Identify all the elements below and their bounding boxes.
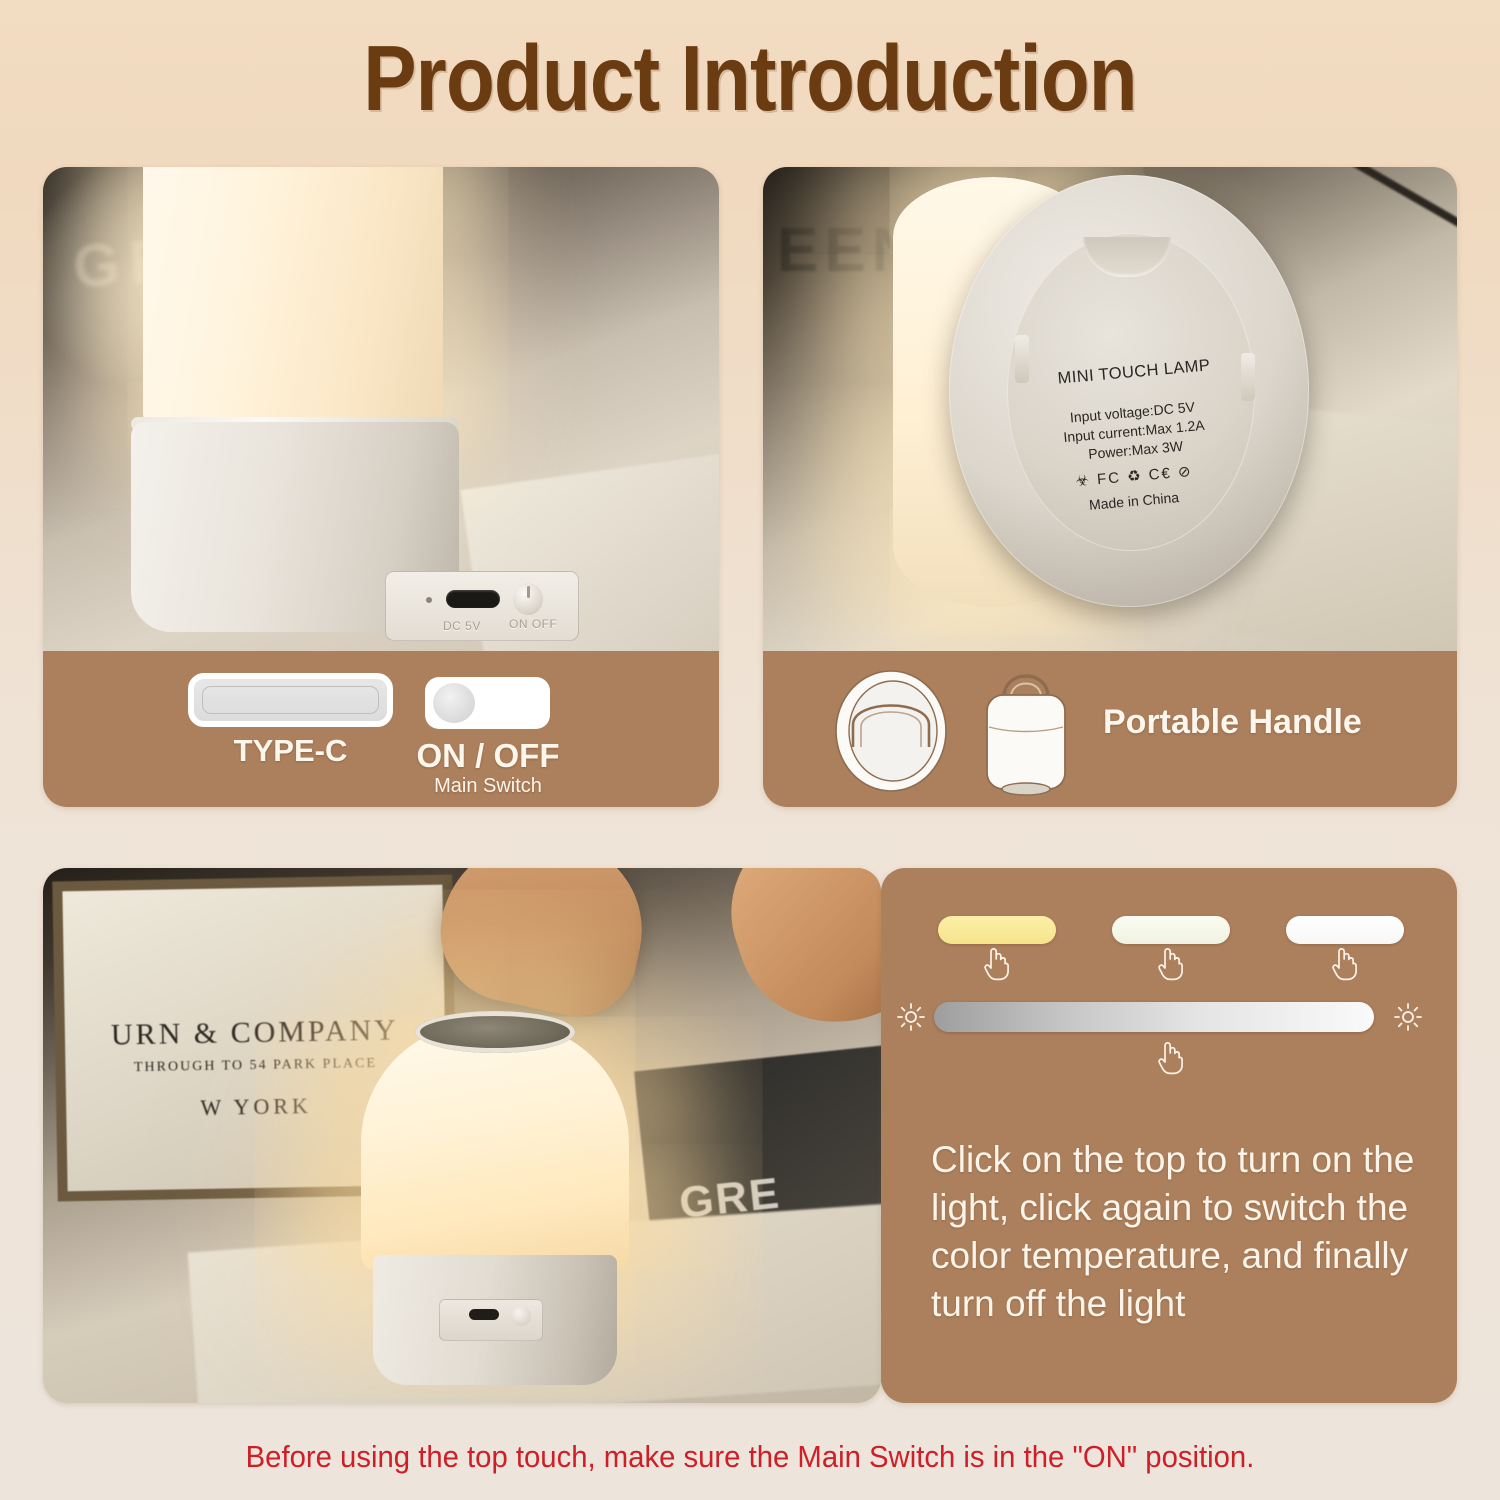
lamp-shade: [143, 167, 443, 432]
handle-side-view-icon: [971, 661, 1081, 797]
photo-lamp-base-ports: GRE DC 5V ON OFF: [43, 167, 719, 651]
pointing-hand-cursor-icon: [1156, 1040, 1184, 1076]
type-c-label: TYPE-C: [188, 733, 393, 769]
type-c-port-inner: [202, 686, 379, 714]
panel-touch-instructions: Click on the top to turn on the light, c…: [881, 868, 1457, 1403]
photo-hand-touching-lamp: URN & COMPANY THROUGH TO 54 PARK PLACE W…: [43, 868, 881, 1403]
handle-top-view-icon: [831, 669, 951, 793]
pointing-hand-cursor-icon: [1156, 946, 1184, 982]
usb-c-port-icon: [469, 1309, 499, 1320]
on-off-label: ON / OFF: [383, 737, 593, 775]
page-title: Product Introduction: [105, 32, 1395, 125]
power-switch-knob: [511, 1306, 531, 1326]
panel-touch-demo-photo: URN & COMPANY THROUGH TO 54 PARK PLACE W…: [43, 868, 881, 1403]
usb-c-port-icon: [446, 590, 500, 608]
portable-handle-label: Portable Handle: [1103, 703, 1433, 742]
lamp-touch-top-icon: [415, 1011, 575, 1053]
caption-band-portable-handle: Portable Handle: [763, 651, 1457, 807]
lamp-shade: [361, 1023, 629, 1271]
color-mode-natural-white[interactable]: [1112, 916, 1230, 944]
lamp-glowing: [361, 1023, 629, 1393]
pointing-hand-cursor-icon: [982, 946, 1010, 982]
power-switch-knob: [513, 583, 543, 615]
photo-lamp-bottom-label: EENS MINI TOUCH LAMP Input voltage:DC 5V…: [763, 167, 1457, 651]
touch-instruction-text: Click on the top to turn on the light, c…: [931, 1136, 1431, 1328]
on-off-switch-icon: [425, 677, 550, 729]
brightness-slider[interactable]: [934, 1002, 1374, 1032]
sun-low-icon: [896, 1002, 926, 1032]
emboss-dc-label: DC 5V: [443, 619, 481, 633]
pointing-hand-cursor-icon: [1330, 946, 1358, 982]
emboss-onoff-label: ON OFF: [509, 617, 557, 631]
main-switch-sublabel: Main Switch: [383, 775, 593, 798]
color-mode-cool-white[interactable]: [1286, 916, 1404, 944]
background-pen: [1336, 167, 1457, 272]
sun-high-icon: [1393, 1002, 1423, 1032]
charging-led-icon: [426, 597, 432, 603]
color-mode-warm-white[interactable]: [938, 916, 1056, 944]
warning-text: Before using the top touch, make sure th…: [30, 1440, 1470, 1475]
finger-touching-lamp: [428, 868, 659, 1027]
panel-type-c-and-switch: GRE DC 5V ON OFF TYPE-C ON / OFF Main Sw…: [43, 167, 719, 807]
type-c-port-icon: [188, 673, 393, 727]
caption-band-type-c: TYPE-C ON / OFF Main Switch: [43, 651, 719, 807]
panel-portable-handle: EENS MINI TOUCH LAMP Input voltage:DC 5V…: [763, 167, 1457, 807]
switch-toggle-knob-icon: [433, 683, 475, 723]
hand-back: [706, 868, 881, 1048]
